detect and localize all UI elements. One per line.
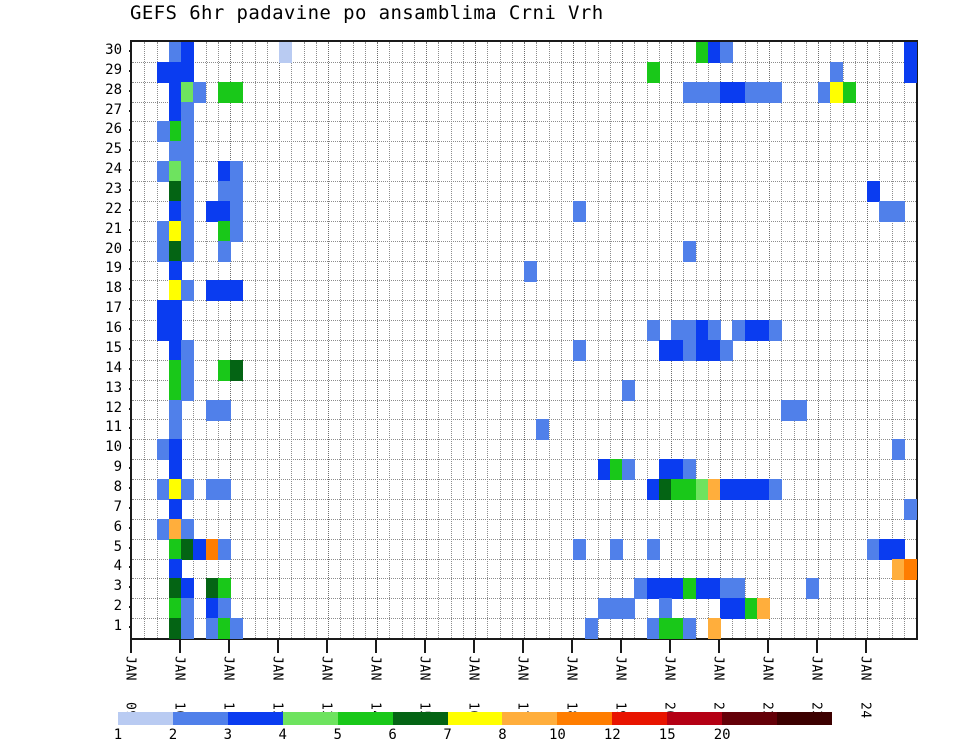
colorbar-tick-label: 1 xyxy=(114,727,122,743)
colorbar-band xyxy=(173,712,228,725)
y-tick-label: 15 xyxy=(105,340,122,356)
x-tick-mark xyxy=(669,640,671,653)
y-tick-label: 20 xyxy=(105,241,122,257)
heatmap-cell[interactable] xyxy=(720,598,733,619)
heatmap-cell[interactable] xyxy=(708,618,721,639)
heatmap-cell[interactable] xyxy=(218,618,231,639)
heatmap-cell[interactable] xyxy=(230,360,243,381)
x-tick-label-month: JAN xyxy=(368,656,383,681)
x-tick-label-month: JAN xyxy=(221,656,236,681)
colorbar-band xyxy=(502,712,557,725)
x-tick-label-month: JAN xyxy=(760,656,775,681)
heatmap-cell[interactable] xyxy=(181,618,194,639)
x-tick-mark xyxy=(767,640,769,653)
heatmap-cell[interactable] xyxy=(573,201,586,222)
heatmap-cell[interactable] xyxy=(647,479,660,500)
y-tick-label: 2 xyxy=(114,598,122,614)
x-tick-mark xyxy=(277,640,279,653)
heatmap-cell[interactable] xyxy=(720,479,733,500)
x-tick-label-month: JAN xyxy=(564,656,579,681)
heatmap-cell[interactable] xyxy=(169,261,182,282)
colorbar-band xyxy=(557,712,612,725)
heatmap-cell[interactable] xyxy=(157,439,170,460)
x-tick-mark xyxy=(179,640,181,653)
x-tick-mark xyxy=(473,640,475,653)
y-axis: 1234567891011121314151617181920212223242… xyxy=(96,40,130,640)
heatmap-cell[interactable] xyxy=(708,320,721,341)
colorbar-tick-label: 4 xyxy=(279,727,287,743)
y-tick-label: 23 xyxy=(105,181,122,197)
heatmap-cell[interactable] xyxy=(157,519,170,540)
x-tick-label-month: JAN xyxy=(858,656,873,681)
heatmap-cell[interactable] xyxy=(708,340,721,361)
heatmap-cell[interactable] xyxy=(157,161,170,182)
x-tick-mark xyxy=(816,640,818,653)
colorbar-band xyxy=(283,712,338,725)
heatmap-cell[interactable] xyxy=(169,320,182,341)
heatmap-cell[interactable] xyxy=(181,82,194,103)
heatmap-cell[interactable] xyxy=(757,479,770,500)
heatmap-cell[interactable] xyxy=(830,82,843,103)
heatmap-cell[interactable] xyxy=(659,598,672,619)
y-tick-label: 27 xyxy=(105,102,122,118)
heatmap-cell[interactable] xyxy=(720,82,733,103)
heatmap-cell[interactable] xyxy=(708,578,721,599)
heatmap-cell[interactable] xyxy=(892,201,905,222)
heatmap-cell[interactable] xyxy=(683,82,696,103)
heatmap-cell[interactable] xyxy=(671,618,684,639)
heatmap-cell[interactable] xyxy=(696,42,709,63)
heatmap-cell[interactable] xyxy=(206,578,219,599)
heatmap-cell[interactable] xyxy=(647,578,660,599)
heatmap-cell[interactable] xyxy=(904,559,917,580)
heatmap-cell[interactable] xyxy=(169,459,182,480)
heatmap-cell[interactable] xyxy=(892,559,905,580)
heatmap-cell[interactable] xyxy=(622,598,635,619)
heatmap-cell[interactable] xyxy=(206,479,219,500)
heatmap-cell[interactable] xyxy=(230,181,243,202)
colorbar-tick-label: 20 xyxy=(714,727,731,743)
heatmap-cell[interactable] xyxy=(732,320,745,341)
x-tick-label-month: JAN xyxy=(613,656,628,681)
heatmap-cell[interactable] xyxy=(169,161,182,182)
heatmap-cell[interactable] xyxy=(757,320,770,341)
heatmap-cell[interactable] xyxy=(892,439,905,460)
heatmap-cell[interactable] xyxy=(218,181,231,202)
heatmap-cell[interactable] xyxy=(230,618,243,639)
heatmap-cell[interactable] xyxy=(218,578,231,599)
colorbar-band xyxy=(777,712,832,725)
heatmap-cell[interactable] xyxy=(708,82,721,103)
y-tick-label: 29 xyxy=(105,62,122,78)
heatmap-cell[interactable] xyxy=(181,479,194,500)
heatmap-cell[interactable] xyxy=(524,261,537,282)
colorbar-band xyxy=(667,712,722,725)
heatmap-cell[interactable] xyxy=(169,241,182,262)
y-tick-label: 4 xyxy=(114,558,122,574)
heatmap-cell[interactable] xyxy=(720,340,733,361)
heatmap-cell[interactable] xyxy=(279,42,292,63)
heatmap-cells[interactable] xyxy=(132,42,916,638)
heatmap-cell[interactable] xyxy=(206,400,219,421)
y-tick-label: 9 xyxy=(114,459,122,475)
colorbar-band xyxy=(448,712,503,725)
heatmap-cell[interactable] xyxy=(218,598,231,619)
heatmap-cell[interactable] xyxy=(169,221,182,242)
y-tick-label: 19 xyxy=(105,260,122,276)
heatmap-cell[interactable] xyxy=(169,559,182,580)
heatmap-cell[interactable] xyxy=(683,241,696,262)
heatmap-cell[interactable] xyxy=(683,578,696,599)
heatmap-cell[interactable] xyxy=(732,479,745,500)
heatmap-cell[interactable] xyxy=(585,618,598,639)
heatmap-cell[interactable] xyxy=(169,280,182,301)
y-tick-label: 17 xyxy=(105,300,122,316)
x-tick-label-month: JAN xyxy=(319,656,334,681)
heatmap-cell[interactable] xyxy=(904,42,917,63)
heatmap-cell[interactable] xyxy=(193,82,206,103)
heatmap-cell[interactable] xyxy=(169,360,182,381)
heatmap-cell[interactable] xyxy=(181,241,194,262)
y-tick-label: 10 xyxy=(105,439,122,455)
x-tick-label-month: JAN xyxy=(711,656,726,681)
y-tick-label: 3 xyxy=(114,578,122,594)
heatmap-cell[interactable] xyxy=(169,141,182,162)
x-tick-label-day: 24 xyxy=(858,702,873,719)
colorbar-tick-label: 8 xyxy=(498,727,506,743)
heatmap-cell[interactable] xyxy=(683,479,696,500)
heatmap-cell[interactable] xyxy=(573,539,586,560)
heatmap-cell[interactable] xyxy=(181,161,194,182)
heatmap-cell[interactable] xyxy=(169,400,182,421)
heatmap-cell[interactable] xyxy=(230,201,243,222)
page-title: GEFS 6hr padavine po ansamblima Crni Vrh xyxy=(130,2,930,24)
heatmap-cell[interactable] xyxy=(647,62,660,83)
x-tick-label-month: JAN xyxy=(172,656,187,681)
heatmap-cell[interactable] xyxy=(769,479,782,500)
heatmap-cell[interactable] xyxy=(169,121,182,142)
heatmap-cell[interactable] xyxy=(879,201,892,222)
heatmap-cell[interactable] xyxy=(843,82,856,103)
heatmap-cell[interactable] xyxy=(169,539,182,560)
y-tick-label: 16 xyxy=(105,320,122,336)
heatmap-cell[interactable] xyxy=(169,42,182,63)
x-axis: JAN09JAN10JAN11JAN12JAN13JAN14JAN15JAN16… xyxy=(130,640,918,710)
heatmap-cell[interactable] xyxy=(683,340,696,361)
x-tick-label-month: JAN xyxy=(662,656,677,681)
x-tick-mark xyxy=(228,640,230,653)
heatmap-cell[interactable] xyxy=(806,578,819,599)
heatmap-cell[interactable] xyxy=(181,360,194,381)
colorbar-tick-label: 3 xyxy=(224,727,232,743)
colorbar-band xyxy=(118,712,173,725)
heatmap-cell[interactable] xyxy=(610,459,623,480)
x-tick-label-month: JAN xyxy=(417,656,432,681)
colorbar-tick-label: 5 xyxy=(333,727,341,743)
heatmap-cell[interactable] xyxy=(904,62,917,83)
y-tick-label: 5 xyxy=(114,539,122,555)
x-tick-mark xyxy=(424,640,426,653)
heatmap-cell[interactable] xyxy=(218,400,231,421)
heatmap-cell[interactable] xyxy=(169,102,182,123)
heatmap-cell[interactable] xyxy=(181,201,194,222)
colorbar-tick-label: 7 xyxy=(443,727,451,743)
colorbar-band xyxy=(612,712,667,725)
colorbar-band xyxy=(228,712,283,725)
heatmap-cell[interactable] xyxy=(230,82,243,103)
y-tick-label: 30 xyxy=(105,42,122,58)
heatmap-cell[interactable] xyxy=(181,519,194,540)
colorbar-tick-label: 6 xyxy=(388,727,396,743)
heatmap-cell[interactable] xyxy=(879,539,892,560)
y-tick-label: 25 xyxy=(105,141,122,157)
heatmap-cell[interactable] xyxy=(610,539,623,560)
x-tick-mark xyxy=(571,640,573,653)
heatmap-cell[interactable] xyxy=(181,221,194,242)
heatmap-cell[interactable] xyxy=(745,598,758,619)
x-tick-mark xyxy=(522,640,524,653)
heatmap-cell[interactable] xyxy=(169,419,182,440)
heatmap-cell[interactable] xyxy=(696,320,709,341)
y-tick-label: 8 xyxy=(114,479,122,495)
heatmap-cell[interactable] xyxy=(683,459,696,480)
heatmap-cell[interactable] xyxy=(573,340,586,361)
colorbar-tick-label: 2 xyxy=(169,727,177,743)
heatmap-cell[interactable] xyxy=(230,161,243,182)
heatmap-cell[interactable] xyxy=(622,459,635,480)
heatmap-cell[interactable] xyxy=(169,201,182,222)
y-tick-label: 14 xyxy=(105,360,122,376)
heatmap-cell[interactable] xyxy=(169,439,182,460)
heatmap-cell[interactable] xyxy=(206,280,219,301)
heatmap-cell[interactable] xyxy=(169,479,182,500)
heatmap-cell[interactable] xyxy=(536,419,549,440)
heatmap-cell[interactable] xyxy=(683,320,696,341)
x-tick-label-month: JAN xyxy=(809,656,824,681)
heatmap-cell[interactable] xyxy=(181,280,194,301)
heatmap-cell[interactable] xyxy=(732,578,745,599)
y-tick-label: 11 xyxy=(105,419,122,435)
heatmap-cell[interactable] xyxy=(659,340,672,361)
heatmap-cell[interactable] xyxy=(867,181,880,202)
heatmap-cell[interactable] xyxy=(732,598,745,619)
heatmap-cell[interactable] xyxy=(622,380,635,401)
heatmap-cell[interactable] xyxy=(181,141,194,162)
colorbar-tick-label: 12 xyxy=(604,727,621,743)
heatmap-cell[interactable] xyxy=(659,578,672,599)
heatmap-cell[interactable] xyxy=(218,201,231,222)
y-tick-label: 13 xyxy=(105,380,122,396)
heatmap-cell[interactable] xyxy=(818,82,831,103)
y-tick-label: 24 xyxy=(105,161,122,177)
heatmap-cell[interactable] xyxy=(157,221,170,242)
heatmap-cell[interactable] xyxy=(169,380,182,401)
heatmap-cell[interactable] xyxy=(157,62,170,83)
y-tick-label: 7 xyxy=(114,499,122,515)
heatmap-cell[interactable] xyxy=(169,181,182,202)
heatmap-cell[interactable] xyxy=(671,320,684,341)
y-tick-label: 6 xyxy=(114,519,122,535)
heatmap-cell[interactable] xyxy=(169,340,182,361)
heatmap-cell[interactable] xyxy=(218,221,231,242)
x-tick-label-month: JAN xyxy=(123,656,138,681)
x-tick-label-month: JAN xyxy=(466,656,481,681)
heatmap-cell[interactable] xyxy=(696,578,709,599)
heatmap-cell[interactable] xyxy=(671,340,684,361)
heatmap-cell[interactable] xyxy=(169,519,182,540)
x-tick-mark xyxy=(375,640,377,653)
heatmap-cell[interactable] xyxy=(206,539,219,560)
heatmap-cell[interactable] xyxy=(218,360,231,381)
heatmap-cell[interactable] xyxy=(708,42,721,63)
heatmap-cell[interactable] xyxy=(181,380,194,401)
heatmap-cell[interactable] xyxy=(659,618,672,639)
heatmap-cell[interactable] xyxy=(157,300,170,321)
heatmap-cell[interactable] xyxy=(193,539,206,560)
heatmap-cell[interactable] xyxy=(671,479,684,500)
heatmap-cell[interactable] xyxy=(647,618,660,639)
heatmap-cell[interactable] xyxy=(181,181,194,202)
heatmap-cell[interactable] xyxy=(781,400,794,421)
x-tick-mark xyxy=(620,640,622,653)
heatmap-cell[interactable] xyxy=(892,539,905,560)
heatmap-cell[interactable] xyxy=(598,459,611,480)
heatmap-cell[interactable] xyxy=(794,400,807,421)
heatmap-cell[interactable] xyxy=(157,241,170,262)
heatmap-cell[interactable] xyxy=(659,479,672,500)
heatmap-cell[interactable] xyxy=(157,479,170,500)
heatmap-cell[interactable] xyxy=(169,62,182,83)
heatmap-cell[interactable] xyxy=(659,459,672,480)
x-tick-label-month: JAN xyxy=(270,656,285,681)
heatmap-cell[interactable] xyxy=(671,578,684,599)
heatmap-cell[interactable] xyxy=(218,539,231,560)
heatmap-cell[interactable] xyxy=(708,479,721,500)
y-tick-label: 12 xyxy=(105,400,122,416)
heatmap-cell[interactable] xyxy=(610,598,623,619)
heatmap-cell[interactable] xyxy=(720,578,733,599)
heatmap-cell[interactable] xyxy=(169,578,182,599)
heatmap-cell[interactable] xyxy=(745,320,758,341)
heatmap-cell[interactable] xyxy=(671,459,684,480)
colorbar-band xyxy=(338,712,393,725)
heatmap-cell[interactable] xyxy=(181,340,194,361)
heatmap-cell[interactable] xyxy=(169,82,182,103)
y-tick-label: 26 xyxy=(105,121,122,137)
heatmap-cell[interactable] xyxy=(206,598,219,619)
heatmap-cell[interactable] xyxy=(696,479,709,500)
heatmap-cell[interactable] xyxy=(181,121,194,142)
x-tick-mark xyxy=(130,640,132,653)
heatmap-cell[interactable] xyxy=(181,102,194,123)
colorbar-band xyxy=(393,712,448,725)
colorbar-tick-label: 15 xyxy=(659,727,676,743)
heatmap-cell[interactable] xyxy=(169,300,182,321)
heatmap-cell[interactable] xyxy=(157,121,170,142)
heatmap-cell[interactable] xyxy=(757,82,770,103)
y-tick-label: 1 xyxy=(114,618,122,634)
heatmap-cell[interactable] xyxy=(206,201,219,222)
x-tick-mark xyxy=(718,640,720,653)
colorbar-legend: 1234567810121520 xyxy=(118,712,832,742)
heatmap-cell[interactable] xyxy=(732,82,745,103)
heatmap-cell[interactable] xyxy=(867,539,880,560)
heatmap-cell[interactable] xyxy=(634,578,647,599)
heatmap-cell[interactable] xyxy=(218,82,231,103)
heatmap-cell[interactable] xyxy=(181,598,194,619)
colorbar-band xyxy=(722,712,777,725)
heatmap-cell[interactable] xyxy=(904,499,917,520)
heatmap-cell[interactable] xyxy=(696,340,709,361)
heatmap-cell[interactable] xyxy=(230,221,243,242)
heatmap-cell[interactable] xyxy=(696,82,709,103)
x-tick-mark xyxy=(326,640,328,653)
heatmap-cell[interactable] xyxy=(206,618,219,639)
heatmap-cell[interactable] xyxy=(169,618,182,639)
x-tick-mark xyxy=(865,640,867,653)
heatmap-cell[interactable] xyxy=(683,618,696,639)
heatmap-plot[interactable] xyxy=(130,40,918,640)
heatmap-cell[interactable] xyxy=(218,280,231,301)
y-tick-label: 18 xyxy=(105,280,122,296)
heatmap-cell[interactable] xyxy=(598,598,611,619)
heatmap-cell[interactable] xyxy=(169,499,182,520)
heatmap-cell[interactable] xyxy=(769,82,782,103)
heatmap-cell[interactable] xyxy=(757,598,770,619)
heatmap-cell[interactable] xyxy=(218,161,231,182)
heatmap-cell[interactable] xyxy=(181,539,194,560)
heatmap-cell[interactable] xyxy=(745,479,758,500)
heatmap-cell[interactable] xyxy=(181,578,194,599)
heatmap-cell[interactable] xyxy=(181,62,194,83)
heatmap-cell[interactable] xyxy=(647,539,660,560)
heatmap-cell[interactable] xyxy=(218,479,231,500)
y-tick-label: 22 xyxy=(105,201,122,217)
colorbar-gradient xyxy=(118,712,832,725)
x-tick-label-month: JAN xyxy=(515,656,530,681)
heatmap-cell[interactable] xyxy=(745,82,758,103)
colorbar-tick-label: 10 xyxy=(549,727,566,743)
heatmap-cell[interactable] xyxy=(181,42,194,63)
heatmap-cell[interactable] xyxy=(647,320,660,341)
heatmap-cell[interactable] xyxy=(157,320,170,341)
y-tick-label: 28 xyxy=(105,82,122,98)
heatmap-cell[interactable] xyxy=(720,42,733,63)
y-tick-label: 21 xyxy=(105,221,122,237)
heatmap-cell[interactable] xyxy=(230,280,243,301)
heatmap-cell[interactable] xyxy=(218,241,231,262)
heatmap-cell[interactable] xyxy=(169,598,182,619)
heatmap-cell[interactable] xyxy=(830,62,843,83)
heatmap-cell[interactable] xyxy=(769,320,782,341)
